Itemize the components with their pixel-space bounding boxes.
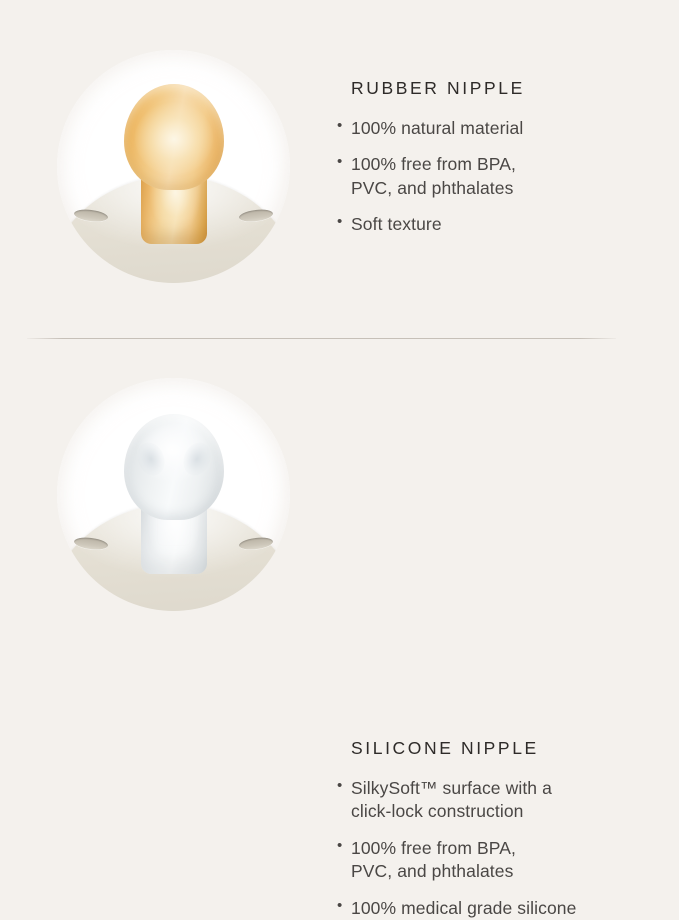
section-rubber-nipple: RUBBER NIPPLE 100% natural material 100%…: [0, 0, 679, 338]
bullet-line-2: PVC, and phthalates: [351, 860, 657, 883]
bullet-line-2: PVC, and phthalates: [351, 177, 657, 200]
list-item: 100% free from BPA, PVC, and phthalates: [337, 153, 657, 200]
shield-air-hole-right: [238, 536, 273, 551]
rubber-feature-list: 100% natural material 100% free from BPA…: [337, 117, 657, 237]
silicone-nipple-photo: [57, 378, 290, 611]
bullet-line-1: 100% free from BPA,: [351, 154, 516, 174]
section-divider: [27, 338, 616, 339]
bullet-line-1: 100% medical grade silicone: [351, 898, 576, 918]
list-item: 100% free from BPA, PVC, and phthalates: [337, 837, 657, 884]
silicone-teat-shape: [120, 414, 228, 584]
silicone-text-column: SILICONE NIPPLE SilkySoft™ surface with …: [337, 738, 657, 920]
list-item: 100% medical grade silicone: [337, 897, 657, 920]
silicone-section-heading: SILICONE NIPPLE: [351, 738, 657, 759]
bullet-line-1: 100% free from BPA,: [351, 838, 516, 858]
list-item: SilkySoft™ surface with a click-lock con…: [337, 777, 657, 824]
shield-air-hole-right: [238, 208, 273, 223]
rubber-section-heading: RUBBER NIPPLE: [351, 78, 657, 99]
silicone-feature-list: SilkySoft™ surface with a click-lock con…: [337, 777, 657, 920]
bullet-line-1: Soft texture: [351, 214, 442, 234]
shield-air-hole-left: [74, 208, 109, 223]
teat-bulb: [124, 414, 224, 520]
teat-bulb: [124, 84, 224, 190]
section-silicone-nipple: SILICONE NIPPLE SilkySoft™ surface with …: [0, 340, 679, 680]
list-item: 100% natural material: [337, 117, 657, 140]
bullet-line-1: 100% natural material: [351, 118, 523, 138]
teat-highlight-right: [178, 438, 215, 479]
rubber-text-column: RUBBER NIPPLE 100% natural material 100%…: [337, 78, 657, 237]
shield-air-hole-left: [74, 536, 109, 551]
rubber-teat-shape: [119, 84, 229, 252]
list-item: Soft texture: [337, 213, 657, 236]
bullet-line-1: SilkySoft™ surface with a: [351, 778, 552, 798]
product-comparison-graphic: RUBBER NIPPLE 100% natural material 100%…: [0, 0, 679, 680]
rubber-nipple-photo: [57, 50, 290, 283]
bullet-line-2: click-lock construction: [351, 800, 657, 823]
teat-highlight-left: [132, 438, 169, 479]
